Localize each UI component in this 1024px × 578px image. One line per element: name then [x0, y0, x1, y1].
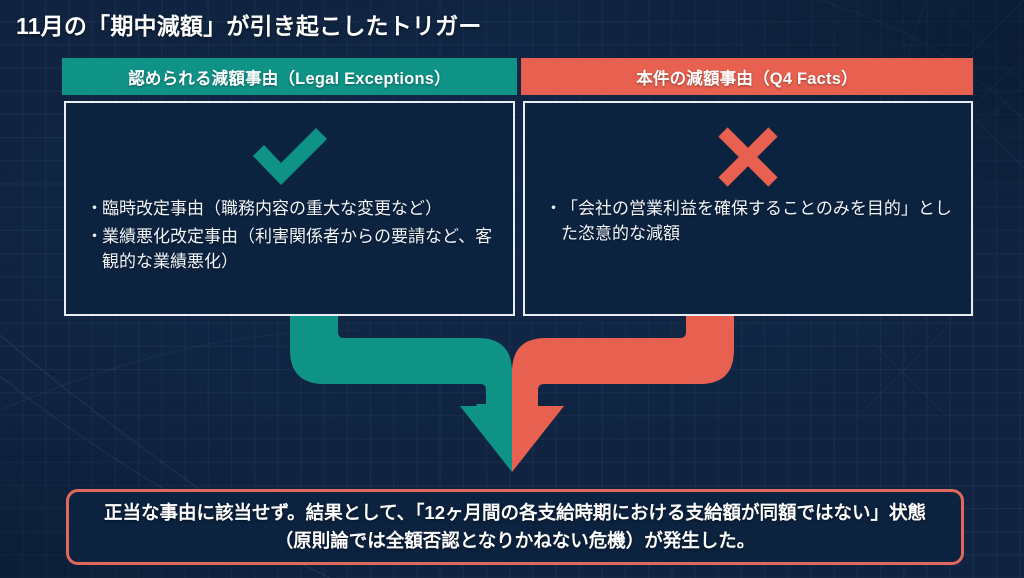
flow-arrows [0, 316, 1024, 488]
list-item-text: 「会社の営業利益を確保することのみを目的」とした恣意的な減額 [561, 199, 952, 243]
column-header-left-label: 認められる減額事由（Legal Exceptions） [128, 65, 451, 89]
bullet-marker: ・ [86, 225, 103, 250]
check-mark-icon [247, 126, 333, 188]
list-item: ・ 業績悪化改定事由（利害関係者からの要請など、客観的な業績悪化） [86, 225, 495, 275]
page-title: 11月の「期中減額」が引き起こしたトリガー [16, 7, 482, 41]
column-header-q4-facts: 本件の減額事由（Q4 Facts） [521, 58, 973, 95]
conclusion-box: 正当な事由に該当せず。結果として、「12ヶ月間の各支給時期における支給額が同額で… [66, 489, 964, 565]
left-mark-area [66, 121, 513, 193]
column-body-legal-exceptions: ・ 臨時改定事由（職務内容の重大な変更など） ・ 業績悪化改定事由（利害関係者か… [64, 101, 515, 316]
list-item-text: 業績悪化改定事由（利害関係者からの要請など、客観的な業績悪化） [102, 227, 492, 271]
list-item: ・ 臨時改定事由（職務内容の重大な変更など） [86, 197, 495, 222]
teal-converging-arrow-shape [290, 316, 512, 472]
bullet-marker: ・ [545, 197, 562, 222]
bullet-marker: ・ [86, 197, 103, 222]
right-bullet-list: ・ 「会社の営業利益を確保することのみを目的」とした恣意的な減額 [525, 197, 971, 250]
list-item: ・ 「会社の営業利益を確保することのみを目的」とした恣意的な減額 [545, 197, 953, 247]
column-header-legal-exceptions: 認められる減額事由（Legal Exceptions） [62, 58, 517, 95]
conclusion-text: 正当な事由に該当せず。結果として、「12ヶ月間の各支給時期における支給額が同額で… [91, 499, 939, 555]
column-header-right-label: 本件の減額事由（Q4 Facts） [636, 65, 858, 89]
coral-converging-arrow-shape [512, 316, 734, 472]
cross-mark-icon [715, 126, 781, 188]
left-bullet-list: ・ 臨時改定事由（職務内容の重大な変更など） ・ 業績悪化改定事由（利害関係者か… [66, 197, 513, 277]
right-mark-area [525, 121, 971, 193]
list-item-text: 臨時改定事由（職務内容の重大な変更など） [102, 199, 442, 218]
slide-canvas: 11月の「期中減額」が引き起こしたトリガー 認められる減額事由（Legal Ex… [0, 0, 1024, 578]
column-body-q4-facts: ・ 「会社の営業利益を確保することのみを目的」とした恣意的な減額 [523, 101, 973, 316]
